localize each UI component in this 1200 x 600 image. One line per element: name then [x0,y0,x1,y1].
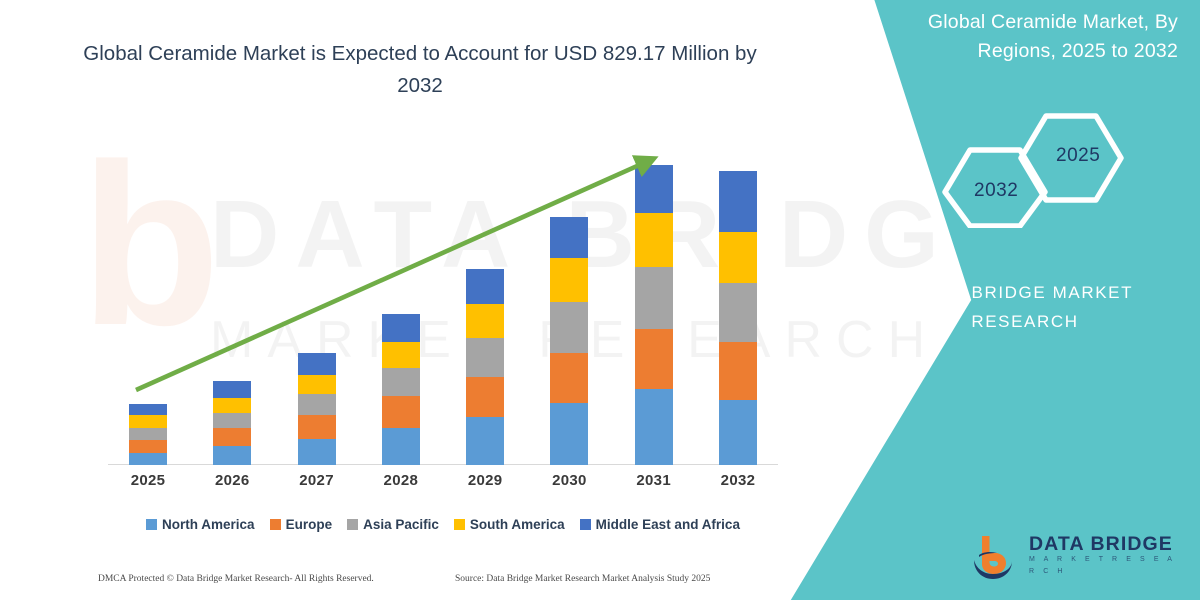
bar-segment [129,404,167,415]
page-title: Global Ceramide Market is Expected to Ac… [80,38,760,102]
x-axis-tick-label: 2030 [529,472,609,498]
bar-column [529,140,609,465]
bar-segment [213,446,251,465]
bar-segment [129,415,167,427]
bar-column [192,140,272,465]
x-axis-tick-label: 2026 [192,472,272,498]
bar-segment [719,342,757,400]
bar-segment [550,217,588,258]
bar-segment [298,439,336,465]
footer: DMCA Protected © Data Bridge Market Rese… [0,568,800,590]
stacked-bar [466,269,504,465]
logo-wordmark: DATA BRIDGE M A R K E T R E S E A R C H [1029,534,1178,578]
bar-column [445,140,525,465]
footer-source-text: Source: Data Bridge Market Research Mark… [455,574,710,584]
bar-segment [298,375,336,394]
legend-swatch-icon [347,519,358,530]
legend-item[interactable]: North America [146,517,255,532]
logo-b-icon [968,530,1020,582]
legend-label: Asia Pacific [363,517,439,532]
bar-segment [635,165,673,213]
bar-group [108,140,778,465]
bar-segment [635,389,673,465]
bar-segment [719,400,757,465]
bar-segment [719,283,757,341]
x-axis-tick-label: 2031 [614,472,694,498]
bar-segment [213,381,251,398]
bar-segment [382,396,420,428]
x-axis-tick-label: 2027 [277,472,357,498]
bar-segment [466,377,504,417]
bar-segment [466,269,504,304]
bar-segment [298,394,336,415]
bar-column [361,140,441,465]
hexagon-years-graphic: 2025 2032 [928,108,1138,228]
bar-segment [213,398,251,413]
legend-label: South America [470,517,565,532]
bar-segment [213,413,251,427]
legend-label: Middle East and Africa [596,517,740,532]
bar-segment [129,453,167,465]
legend-item[interactable]: Europe [270,517,333,532]
bar-column [614,140,694,465]
bar-segment [550,403,588,465]
footer-dmca-text: DMCA Protected © Data Bridge Market Rese… [98,574,374,584]
legend-swatch-icon [454,519,465,530]
bar-segment [466,338,504,377]
chart-legend: North AmericaEuropeAsia PacificSouth Ame… [108,512,778,536]
panel-brand-text: DATA BRIDGE MARKET RESEARCH [880,278,1170,336]
bar-segment [719,232,757,284]
data-bridge-mark-icon [968,530,1020,582]
legend-label: North America [162,517,255,532]
bar-column [108,140,188,465]
bar-segment [635,329,673,388]
bar-segment [298,353,336,375]
bar-segment [550,258,588,302]
bar-segment [635,267,673,329]
bar-segment [129,440,167,452]
bar-segment [382,368,420,397]
bar-segment [719,171,757,232]
stacked-bar [635,165,673,465]
panel-title: Global Ceramide Market, By Regions, 2025… [848,8,1178,66]
x-axis-tick-label: 2029 [445,472,525,498]
legend-swatch-icon [270,519,281,530]
legend-swatch-icon [146,519,157,530]
x-axis-tick-label: 2028 [361,472,441,498]
bar-segment [550,353,588,403]
stacked-bar [298,353,336,465]
bar-segment [466,417,504,465]
bar-column [698,140,778,465]
logo-name: DATA BRIDGE [1029,534,1178,554]
bar-segment [466,304,504,337]
stacked-bar [382,314,420,465]
legend-label: Europe [286,517,333,532]
chart-area: b DATA BRIDGE MARKET RESEARCH Global Cer… [0,0,830,600]
legend-item[interactable]: Asia Pacific [347,517,439,532]
bar-segment [382,314,420,342]
legend-swatch-icon [580,519,591,530]
stacked-bar-chart [108,140,778,465]
bar-segment [213,428,251,446]
legend-item[interactable]: Middle East and Africa [580,517,740,532]
bar-segment [382,428,420,465]
bar-column [277,140,357,465]
bar-segment [298,415,336,439]
bar-segment [382,342,420,368]
x-axis-labels: 20252026202720282029203020312032 [108,472,778,498]
x-axis-tick-label: 2025 [108,472,188,498]
stacked-bar [719,171,757,465]
stacked-bar [213,381,251,465]
stacked-bar [129,404,167,465]
data-bridge-logo: DATA BRIDGE M A R K E T R E S E A R C H [968,528,1178,584]
bar-segment [635,213,673,267]
bar-segment [550,302,588,354]
hexagon-label-start-year: 2025 [1056,145,1100,167]
x-axis-tick-label: 2032 [698,472,778,498]
hexagon-pair-icon [928,108,1138,228]
logo-subtitle: M A R K E T R E S E A R C H [1029,554,1178,578]
legend-item[interactable]: South America [454,517,565,532]
bar-segment [129,428,167,440]
stacked-bar [550,217,588,466]
hexagon-label-end-year: 2032 [974,180,1018,202]
